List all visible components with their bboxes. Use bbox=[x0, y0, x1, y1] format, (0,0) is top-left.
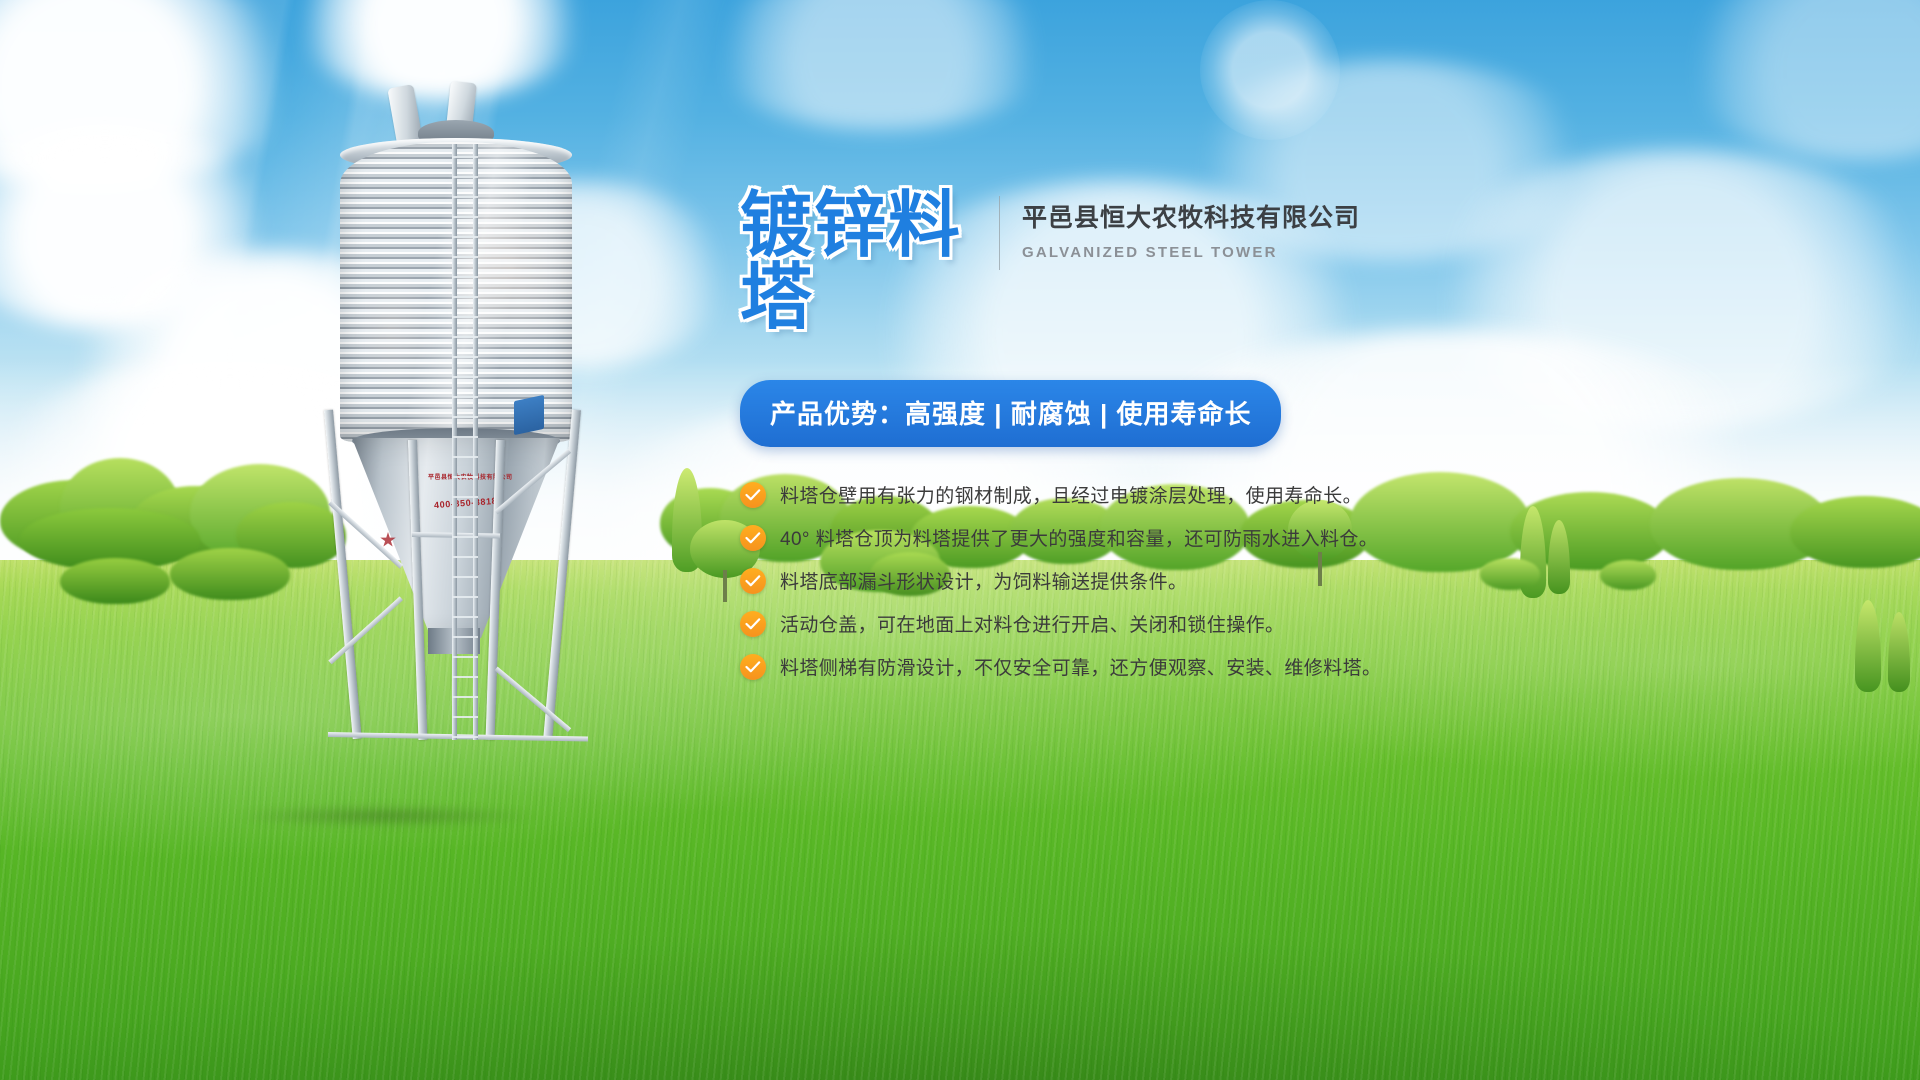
check-circle-icon bbox=[740, 482, 766, 508]
list-item: 料塔侧梯有防滑设计，不仅安全可靠，还方便观察、安装、维修料塔。 bbox=[740, 653, 1360, 680]
bush bbox=[1600, 560, 1656, 590]
page-title: 镀锌料塔 bbox=[740, 190, 977, 334]
feature-text: 40° 料塔仓顶为料塔提供了更大的强度和容量，还可防雨水进入料仓。 bbox=[780, 524, 1378, 551]
company-subtitle: GALVANIZED STEEL TOWER bbox=[1022, 244, 1360, 261]
check-circle-icon bbox=[740, 654, 766, 680]
list-item: 料塔底部漏斗形状设计，为饲料输送提供条件。 bbox=[740, 567, 1360, 594]
check-circle-icon bbox=[740, 611, 766, 637]
silo-leg bbox=[324, 410, 362, 740]
conifer-tree bbox=[1855, 600, 1881, 692]
conifer-tree bbox=[1888, 612, 1910, 692]
company-block: 平邑县恒大农牧科技有限公司 GALVANIZED STEEL TOWER bbox=[1022, 190, 1360, 261]
silo-blue-fitting bbox=[514, 395, 544, 435]
feature-text: 料塔仓壁用有张力的钢材制成，且经过电镀涂层处理，使用寿命长。 bbox=[780, 481, 1362, 508]
list-item: 40° 料塔仓顶为料塔提供了更大的强度和容量，还可防雨水进入料仓。 bbox=[740, 524, 1360, 551]
check-circle-icon bbox=[740, 568, 766, 594]
bush bbox=[1480, 558, 1540, 590]
silo-side-ladder bbox=[452, 144, 478, 740]
bush bbox=[60, 558, 170, 604]
vertical-divider bbox=[999, 196, 1000, 270]
galvanized-silo-image: 平邑县恒大农牧科技有限公司 400-850-8818 bbox=[300, 80, 620, 760]
silo-brace bbox=[328, 596, 403, 664]
feature-list: 料塔仓壁用有张力的钢材制成，且经过电镀涂层处理，使用寿命长。 40° 料塔仓顶为… bbox=[740, 481, 1360, 680]
sun-glow bbox=[1200, 0, 1340, 140]
bush bbox=[170, 548, 290, 600]
list-item: 活动仓盖，可在地面上对料仓进行开启、关闭和锁住操作。 bbox=[740, 610, 1360, 637]
title-row: 镀锌料塔 平邑县恒大农牧科技有限公司 GALVANIZED STEEL TOWE… bbox=[740, 190, 1360, 334]
silo-brace bbox=[494, 667, 571, 733]
feature-text: 活动仓盖，可在地面上对料仓进行开启、关闭和锁住操作。 bbox=[780, 610, 1284, 637]
advantage-badge: 产品优势：高强度 | 耐腐蚀 | 使用寿命长 bbox=[740, 380, 1281, 447]
check-circle-icon bbox=[740, 525, 766, 551]
silo-ground-shadow bbox=[236, 805, 536, 827]
hero-scene: 平邑县恒大农牧科技有限公司 400-850-8818 bbox=[0, 0, 1920, 1080]
list-item: 料塔仓壁用有张力的钢材制成，且经过电镀涂层处理，使用寿命长。 bbox=[740, 481, 1360, 508]
hero-text-panel: 镀锌料塔 平邑县恒大农牧科技有限公司 GALVANIZED STEEL TOWE… bbox=[740, 190, 1360, 696]
feature-text: 料塔侧梯有防滑设计，不仅安全可靠，还方便观察、安装、维修料塔。 bbox=[780, 653, 1381, 680]
feature-text: 料塔底部漏斗形状设计，为饲料输送提供条件。 bbox=[780, 567, 1187, 594]
company-name: 平邑县恒大农牧科技有限公司 bbox=[1022, 198, 1360, 234]
conifer-tree bbox=[1548, 520, 1570, 594]
